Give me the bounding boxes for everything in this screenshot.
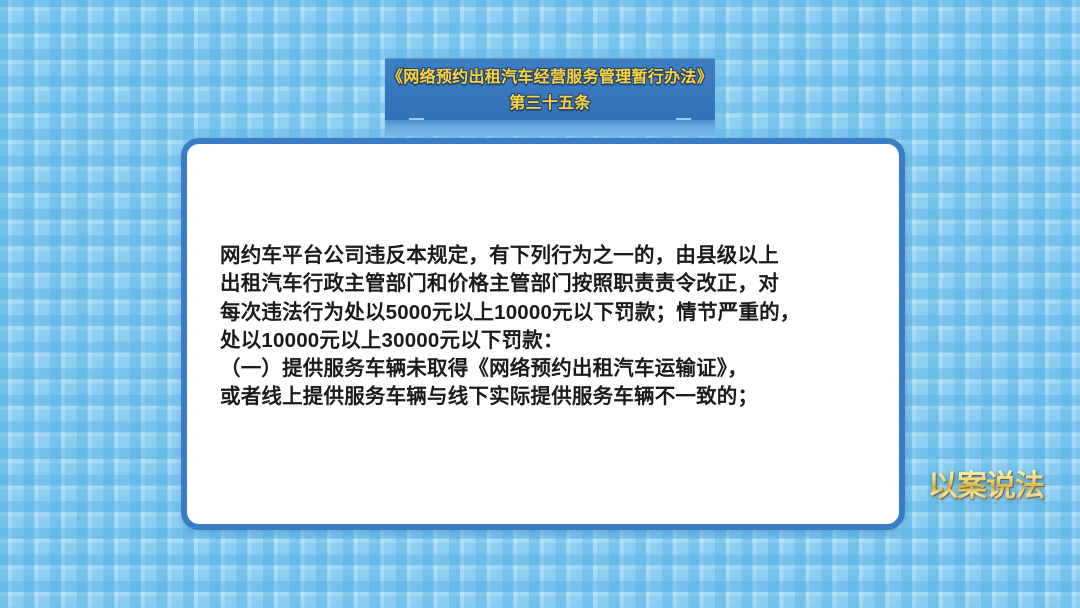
banner-title-line-2: 第三十五条 (385, 93, 715, 115)
banner-title-line-1: 《网络预约出租汽车经营服务管理暂行办法》 (385, 67, 715, 89)
regulation-line: （一）提供服务车辆未取得《网络预约出租汽车运输证》， (220, 355, 879, 383)
video-frame: 《网络预约出租汽车经营服务管理暂行办法》 第三十五条 网约车平台公司违反本规定，… (0, 0, 1080, 608)
banner-bottom-strip (385, 120, 715, 136)
regulation-line: 处以10000元以上30000元以下罚款： (220, 327, 879, 355)
regulation-line: 出租汽车行政主管部门和价格主管部门按照职责责令改正，对 (220, 270, 879, 298)
regulation-text-card: 网约车平台公司违反本规定，有下列行为之一的，由县级以上 出租汽车行政主管部门和价… (181, 138, 905, 530)
program-logo-watermark: 以案说法 (928, 466, 1040, 508)
regulation-line: 或者线上提供服务车辆与线下实际提供服务车辆不一致的； (220, 383, 879, 411)
regulation-line: 网约车平台公司违反本规定，有下列行为之一的，由县级以上 (220, 242, 879, 270)
regulation-line: 每次违法行为处以5000元以上10000元以下罚款；情节严重的， (220, 299, 879, 327)
regulation-text-block: 网约车平台公司违反本规定，有下列行为之一的，由县级以上 出租汽车行政主管部门和价… (220, 242, 879, 412)
regulation-title-banner: 《网络预约出租汽车经营服务管理暂行办法》 第三十五条 (385, 58, 715, 136)
program-logo-text: 以案说法 (928, 470, 1044, 503)
banner-title: 《网络预约出租汽车经营服务管理暂行办法》 第三十五条 (385, 67, 715, 115)
